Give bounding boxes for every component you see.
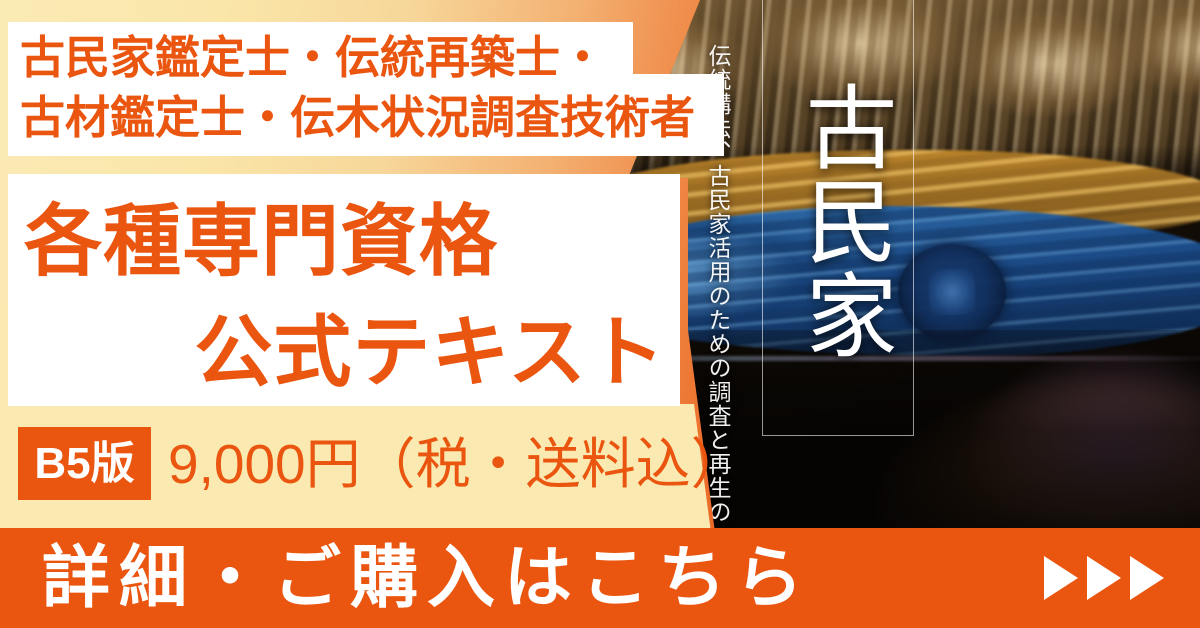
cover-title-text: 古民家 xyxy=(768,6,908,436)
triangle-right-icon xyxy=(1130,556,1164,600)
promo-banner: 古民家 伝統構法、古民家活用のための調査と再生の 古民家鑑定士・伝統再築士・ 古… xyxy=(0,0,1200,628)
triangle-right-icon xyxy=(1087,556,1121,600)
price-text: 9,000円（税・送料込） xyxy=(168,428,746,500)
family-crest-medallion xyxy=(898,244,1006,340)
subheading-line-1: 古民家鑑定士・伝統再築士・ xyxy=(20,28,720,88)
cta-arrow-group xyxy=(1044,528,1164,628)
main-heading: 各種専門資格 公式テキスト xyxy=(14,186,674,408)
triangle-right-icon xyxy=(1044,556,1078,600)
cta-bar[interactable]: 詳細・ご購入はこちら xyxy=(0,528,1200,628)
subheading: 古民家鑑定士・伝統再築士・ 古材鑑定士・伝木状況調査技術者 xyxy=(20,28,720,149)
subheading-line-2: 古材鑑定士・伝木状況調査技術者 xyxy=(20,88,720,148)
format-badge: B5版 xyxy=(18,427,151,500)
main-heading-line-1: 各種専門資格 xyxy=(14,186,674,297)
main-heading-line-2: 公式テキスト xyxy=(14,297,674,408)
cta-label: 詳細・ご購入はこちら xyxy=(42,528,812,628)
